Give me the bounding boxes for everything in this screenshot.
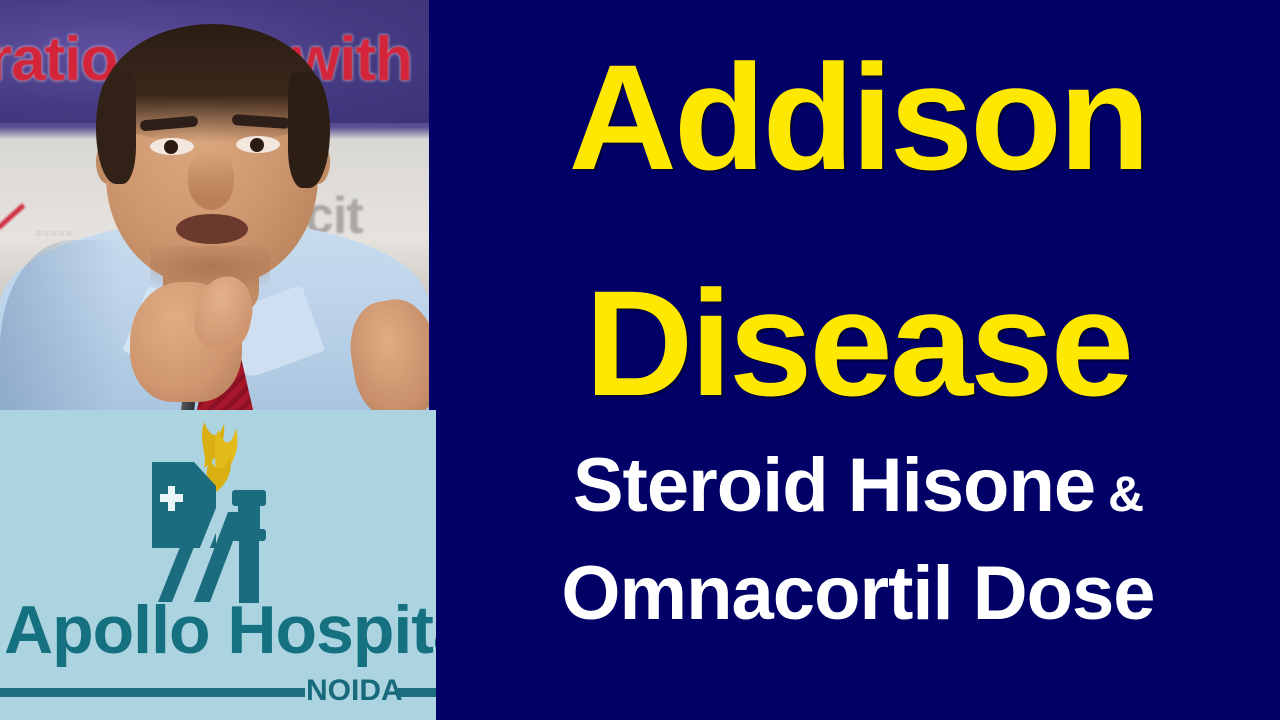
person-hair-right [288, 72, 330, 188]
person-nose [188, 152, 234, 210]
doctor-photo: ratio with licit ===== ..... [0, 0, 429, 410]
title-line-1: Addison [436, 42, 1280, 192]
person-eye-left [150, 138, 194, 155]
person-eye-right [236, 136, 280, 153]
title-line-2: Disease [436, 268, 1280, 418]
pupil [250, 138, 264, 152]
subtitle-line-1: Steroid Hisone & [436, 448, 1280, 524]
person-hair-left [96, 72, 136, 184]
person-shoulder-shadow [0, 240, 120, 410]
title-panel: Addison Disease Steroid Hisone & Omnacor… [436, 0, 1280, 720]
ampersand-glyph: & [1095, 466, 1143, 522]
apollo-torch-shield-icon [132, 416, 280, 606]
subtitle-line-2: Omnacortil Dose [436, 556, 1280, 632]
person-chin-shadow [150, 246, 270, 286]
apollo-wordmark: Apollo Hospitals [4, 596, 432, 664]
video-thumbnail: ratio with licit ===== ..... [0, 0, 1280, 720]
left-column: ratio with licit ===== ..... [0, 0, 436, 720]
person-mouth [176, 214, 248, 244]
apollo-hospitals-logo-panel: Apollo Hospitals NOIDA [0, 410, 436, 720]
apollo-location-label: NOIDA [306, 676, 403, 706]
subtitle-line-1-main: Steroid Hisone [573, 443, 1095, 528]
person-figure [0, 0, 429, 410]
pupil [164, 140, 178, 154]
apollo-rule-right [398, 688, 436, 697]
apollo-rule-left [0, 688, 305, 697]
